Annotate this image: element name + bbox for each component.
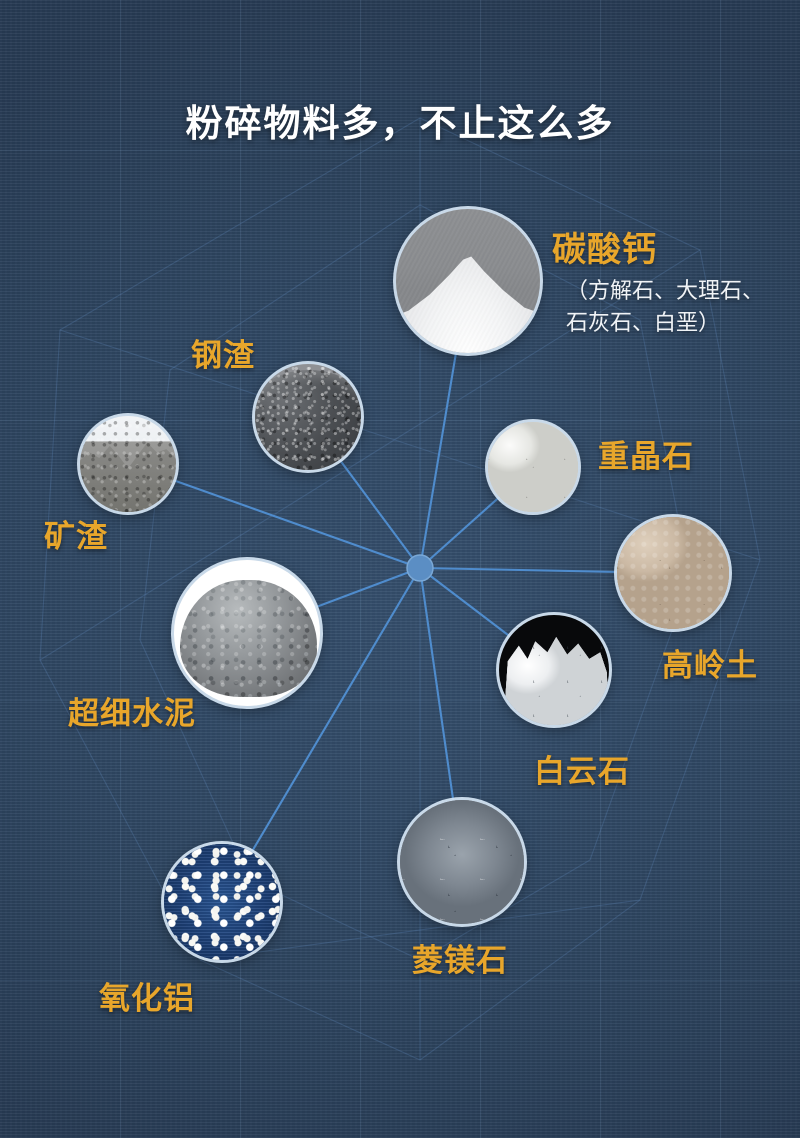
label-mineral-slag: 矿渣 (44, 511, 108, 556)
node-image-ultrafine-cement[interactable] (174, 560, 320, 706)
sublabel-calcium-carbonate: （方解石、大理石、 石灰石、白垩） (566, 276, 764, 340)
node-image-dolomite[interactable] (499, 615, 609, 725)
node-image-calcium-carbonate[interactable] (396, 209, 540, 353)
page-title: 粉碎物料多，不止这么多 (0, 93, 800, 147)
infographic-poster: 粉碎物料多，不止这么多 碳酸钙 （方解石、大理石、 石灰石、白垩） 钢渣 矿渣 … (0, 0, 800, 1138)
barite-photo (488, 422, 578, 512)
node-image-barite[interactable] (488, 422, 578, 512)
alumina-photo (164, 844, 280, 960)
node-image-mineral-slag[interactable] (80, 416, 176, 512)
hub-node (407, 555, 433, 581)
label-dolomite: 白云石 (534, 746, 630, 791)
label-steel-slag: 钢渣 (191, 330, 255, 375)
ultrafine-cement-photo (174, 560, 320, 706)
dolomite-photo (499, 615, 609, 725)
magnesite-photo (400, 800, 524, 924)
mineral-slag-photo (80, 416, 176, 512)
node-image-alumina[interactable] (164, 844, 280, 960)
label-ultrafine-cement: 超细水泥 (68, 688, 196, 733)
steel-slag-photo (255, 364, 361, 470)
label-barite: 重晶石 (598, 431, 694, 476)
node-image-steel-slag[interactable] (255, 364, 361, 470)
node-image-kaolin[interactable] (617, 517, 729, 629)
label-kaolin: 高岭土 (662, 640, 758, 685)
label-magnesite: 菱镁石 (412, 935, 508, 980)
label-alumina: 氧化铝 (99, 973, 195, 1018)
node-image-magnesite[interactable] (400, 800, 524, 924)
label-calcium-carbonate: 碳酸钙 (552, 222, 657, 271)
kaolin-photo (617, 517, 729, 629)
calcium-carbonate-photo (396, 209, 540, 353)
